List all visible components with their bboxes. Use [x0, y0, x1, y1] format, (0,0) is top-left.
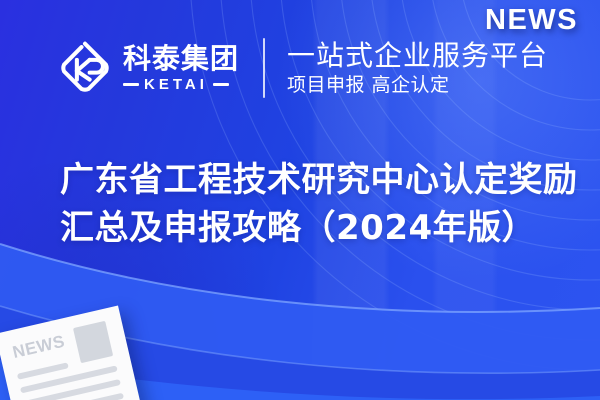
- page-title-line-2: 汇总及申报攻略（2024年版）: [60, 204, 560, 252]
- news-badge: NEWS: [485, 6, 578, 35]
- brand-header: 科泰集团 KETAI 一站式企业服务平台 项目申报 高企认定: [56, 38, 548, 98]
- brand-logo-lockup: 科泰集团 KETAI: [56, 39, 239, 97]
- brand-name-en-row: KETAI: [123, 77, 239, 92]
- logo-rule-left: [123, 83, 139, 86]
- ketai-diamond-monogram-icon: [56, 39, 114, 97]
- tagline-main: 一站式企业服务平台: [287, 40, 548, 72]
- logo-rule-right: [213, 83, 229, 86]
- page-title-line-1: 广东省工程技术研究中心认定奖励: [60, 156, 560, 204]
- newspaper-thumbnail-block: [73, 321, 113, 364]
- tagline-block: 一站式企业服务平台 项目申报 高企认定: [287, 40, 548, 97]
- brand-name-cn: 科泰集团: [123, 44, 239, 73]
- tagline-sub: 项目申报 高企认定: [287, 74, 548, 97]
- newspaper-heading: NEWS: [11, 333, 66, 361]
- header-divider: [263, 38, 265, 98]
- brand-logo-text: 科泰集团 KETAI: [123, 44, 239, 91]
- news-banner: NEWS 科泰集团 KETAI 一站式: [0, 0, 600, 400]
- brand-name-en: KETAI: [144, 77, 208, 92]
- page-title: 广东省工程技术研究中心认定奖励 汇总及申报攻略（2024年版）: [60, 156, 560, 253]
